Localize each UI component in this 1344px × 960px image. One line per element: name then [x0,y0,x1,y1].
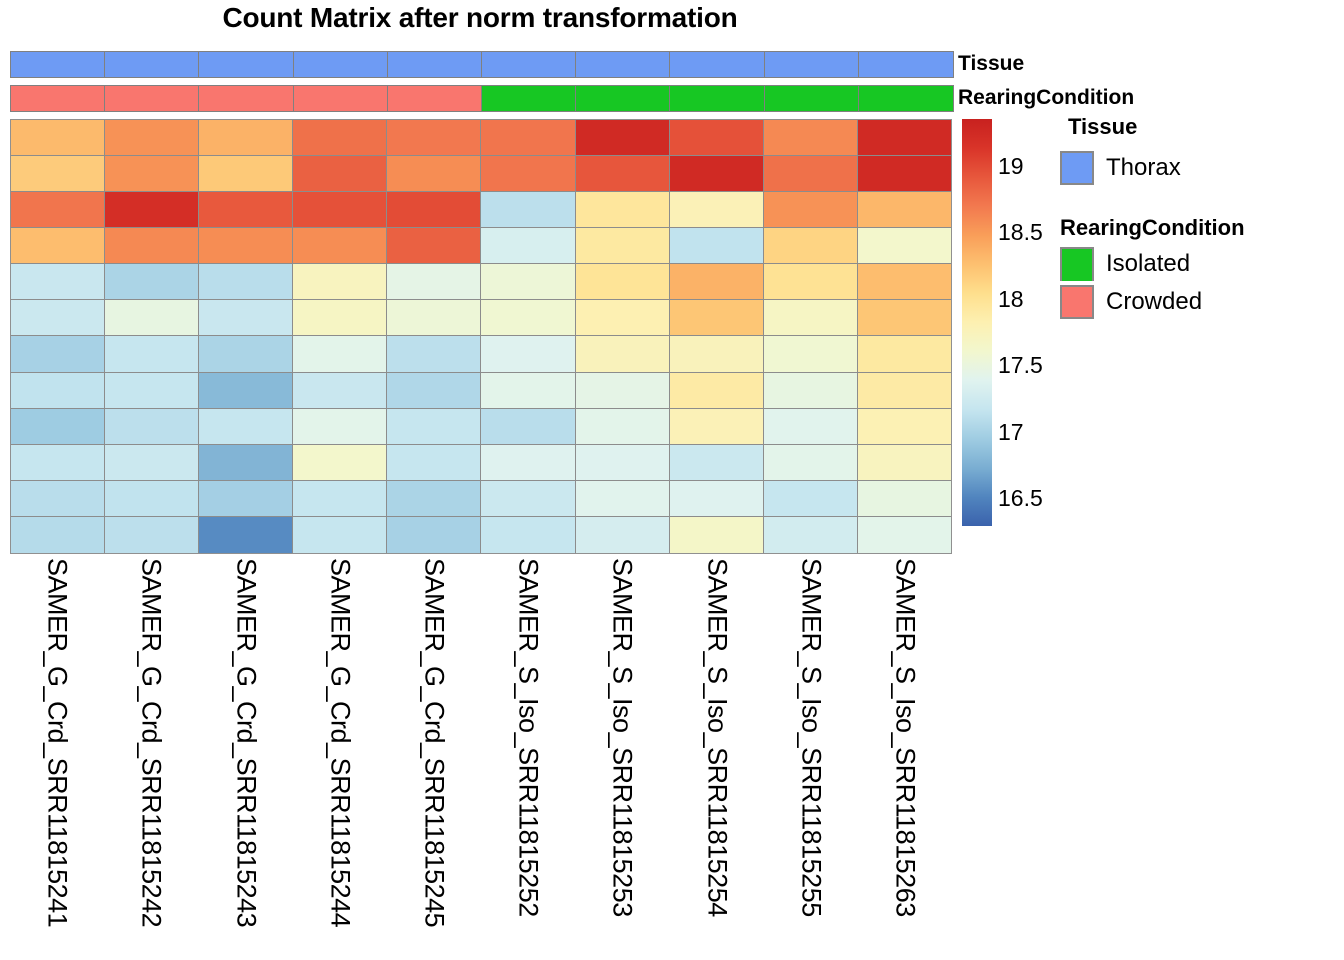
heatmap-cell [293,264,387,300]
heatmap-cell [858,409,951,445]
heatmap-cell [764,481,858,517]
heatmap-cell [576,409,670,445]
heatmap-cell [199,228,293,264]
column-label: SAMER_G_Crd_SRR11815241 [42,558,73,927]
column-label-slot: SAMER_G_Crd_SRR11815242 [104,556,198,956]
colorbar-tick-label: 16.5 [998,485,1043,512]
column-label-slot: SAMER_G_Crd_SRR11815245 [387,556,481,956]
heatmap-cell [764,300,858,336]
heatmap-grid [10,119,952,554]
heatmap-cell [105,517,199,553]
annotation-cell [10,85,106,112]
column-label: SAMER_S_Iso_SRR11815253 [607,558,638,917]
legend-title-tissue: Tissue [1068,114,1137,140]
heatmap-cell [481,409,575,445]
legend-swatch-isolated [1060,247,1094,281]
annotation-cell [669,85,765,112]
heatmap-cell [764,336,858,372]
heatmap-cell [199,336,293,372]
column-axis-labels: SAMER_G_Crd_SRR11815241SAMER_G_Crd_SRR11… [10,556,952,956]
heatmap-cell [105,481,199,517]
heatmap-row [11,120,951,156]
annotation-label-tissue: Tissue [958,52,1024,76]
heatmap-cell [764,409,858,445]
heatmap-cell [764,192,858,228]
heatmap-cell [764,120,858,156]
column-label-slot: SAMER_S_Iso_SRR11815252 [481,556,575,956]
heatmap-cell [105,120,199,156]
heatmap-row [11,481,951,517]
heatmap-cell [764,517,858,553]
heatmap-cell [481,373,575,409]
heatmap-cell [670,336,764,372]
heatmap-cell [387,156,481,192]
heatmap-cell [293,517,387,553]
heatmap-row [11,445,951,481]
heatmap-cell [293,373,387,409]
annotation-cell [481,85,577,112]
heatmap-cell [11,228,105,264]
annotation-bar-tissue [10,51,952,78]
column-label: SAMER_G_Crd_SRR11815245 [418,558,449,927]
heatmap-cell [670,445,764,481]
heatmap-cell [858,192,951,228]
heatmap-row [11,228,951,264]
heatmap-cell [858,517,951,553]
column-label: SAMER_S_Iso_SRR11815263 [889,558,920,917]
heatmap-cell [576,228,670,264]
heatmap-cell [105,264,199,300]
column-label-slot: SAMER_G_Crd_SRR11815241 [10,556,104,956]
heatmap-cell [858,264,951,300]
column-label-slot: SAMER_S_Iso_SRR11815255 [764,556,858,956]
heatmap-cell [105,409,199,445]
heatmap-cell [858,445,951,481]
heatmap-cell [387,192,481,228]
heatmap-cell [576,300,670,336]
heatmap-cell [764,264,858,300]
column-label: SAMER_S_Iso_SRR11815254 [701,558,732,917]
heatmap-cell [11,409,105,445]
heatmap-cell [576,192,670,228]
legend-entry-thorax[interactable]: Thorax [1060,151,1181,185]
heatmap-cell [764,228,858,264]
heatmap-cell [199,517,293,553]
heatmap-cell [11,192,105,228]
colorbar-tick-label: 17 [998,419,1024,446]
heatmap-cell [670,120,764,156]
page-title: Count Matrix after norm transformation [0,2,960,34]
heatmap-cell [481,192,575,228]
heatmap-cell [105,228,199,264]
colorbar-tick-label: 18 [998,286,1024,313]
annotation-cell [858,51,954,78]
heatmap-cell [387,228,481,264]
column-label-slot: SAMER_S_Iso_SRR11815263 [858,556,952,956]
heatmap-cell [481,228,575,264]
heatmap-cell [764,156,858,192]
heatmap-cell [11,373,105,409]
heatmap-cell [199,156,293,192]
heatmap-cell [858,228,951,264]
annotation-label-rearing: RearingCondition [958,86,1134,110]
legend-entry-isolated[interactable]: Isolated [1060,247,1190,281]
heatmap-cell [11,517,105,553]
annotation-cell [387,51,483,78]
heatmap-cell [670,517,764,553]
heatmap-cell [670,228,764,264]
heatmap-cell [11,120,105,156]
heatmap-cell [199,445,293,481]
annotation-cell [198,85,294,112]
heatmap-cell [293,300,387,336]
column-label-slot: SAMER_S_Iso_SRR11815253 [575,556,669,956]
annotation-cell [104,51,200,78]
heatmap-cell [105,373,199,409]
heatmap-cell [293,445,387,481]
heatmap-row [11,336,951,372]
heatmap-cell [105,192,199,228]
heatmap-cell [670,373,764,409]
heatmap-cell [481,336,575,372]
heatmap-cell [670,264,764,300]
heatmap-cell [387,373,481,409]
annotation-cell [10,51,106,78]
heatmap-cell [105,336,199,372]
heatmap-cell [11,300,105,336]
annotation-cell [764,85,860,112]
heatmap-cell [858,336,951,372]
heatmap-cell [199,264,293,300]
heatmap-cell [858,481,951,517]
column-label: SAMER_G_Crd_SRR11815243 [230,558,261,927]
heatmap-cell [293,336,387,372]
column-label: SAMER_S_Iso_SRR11815255 [795,558,826,917]
column-label: SAMER_S_Iso_SRR11815252 [513,558,544,917]
heatmap-row [11,192,951,228]
annotation-cell [481,51,577,78]
heatmap-cell [105,156,199,192]
column-label: SAMER_G_Crd_SRR11815244 [324,558,355,927]
heatmap-cell [858,373,951,409]
heatmap-cell [481,264,575,300]
heatmap-cell [199,409,293,445]
heatmap-cell [670,481,764,517]
heatmap-row [11,300,951,336]
heatmap-cell [11,445,105,481]
heatmap-row [11,373,951,409]
heatmap-cell [670,300,764,336]
heatmap-cell [11,481,105,517]
heatmap-cell [576,120,670,156]
heatmap-cell [387,409,481,445]
heatmap-cell [387,120,481,156]
heatmap-row [11,517,951,553]
column-label-slot: SAMER_G_Crd_SRR11815244 [293,556,387,956]
heatmap-cell [576,445,670,481]
legend-swatch-thorax [1060,151,1094,185]
heatmap-cell [387,300,481,336]
heatmap-cell [670,192,764,228]
heatmap-cell [293,228,387,264]
legend-swatch-crowded [1060,285,1094,319]
annotation-bar-rearing [10,85,952,112]
heatmap-cell [11,264,105,300]
colorbar-tick-label: 17.5 [998,352,1043,379]
annotation-cell [104,85,200,112]
heatmap-row [11,264,951,300]
heatmap-figure: Count Matrix after norm transformation T… [0,0,1344,960]
heatmap-cell [199,192,293,228]
legend-label-thorax: Thorax [1106,154,1181,182]
column-label-slot: SAMER_G_Crd_SRR11815243 [198,556,292,956]
heatmap-cell [576,517,670,553]
legend-label-isolated: Isolated [1106,250,1190,278]
heatmap-cell [199,300,293,336]
annotation-cell [575,51,671,78]
annotation-cell [575,85,671,112]
heatmap-cell [858,120,951,156]
heatmap-cell [576,336,670,372]
column-label-slot: SAMER_S_Iso_SRR11815254 [669,556,763,956]
colorbar-gradient [962,119,992,526]
colorbar-tick-label: 19 [998,153,1024,180]
heatmap-cell [387,517,481,553]
colorbar [962,119,992,526]
heatmap-cell [105,300,199,336]
annotation-cell [387,85,483,112]
heatmap-cell [199,373,293,409]
heatmap-cell [11,156,105,192]
heatmap-cell [481,517,575,553]
legend-label-crowded: Crowded [1106,288,1202,316]
legend-entry-crowded[interactable]: Crowded [1060,285,1202,319]
heatmap-cell [387,445,481,481]
heatmap-cell [199,120,293,156]
heatmap-cell [387,264,481,300]
heatmap-cell [293,481,387,517]
heatmap-row [11,409,951,445]
heatmap-cell [481,445,575,481]
heatmap-cell [293,156,387,192]
heatmap-cell [199,481,293,517]
heatmap-cell [576,373,670,409]
heatmap-cell [576,264,670,300]
annotation-cell [669,51,765,78]
heatmap-cell [481,481,575,517]
heatmap-cell [387,481,481,517]
heatmap-cell [481,120,575,156]
heatmap-cell [670,409,764,445]
heatmap-cell [481,300,575,336]
heatmap-cell [764,373,858,409]
heatmap-cell [293,120,387,156]
heatmap-cell [293,409,387,445]
heatmap-cell [576,156,670,192]
heatmap-cell [670,156,764,192]
heatmap-cell [387,336,481,372]
heatmap-cell [293,192,387,228]
annotation-cell [198,51,294,78]
heatmap-cell [858,300,951,336]
heatmap-cell [11,336,105,372]
heatmap-cell [764,445,858,481]
colorbar-tick-label: 18.5 [998,219,1043,246]
annotation-cell [858,85,954,112]
heatmap-row [11,156,951,192]
heatmap-cell [858,156,951,192]
heatmap-cell [105,445,199,481]
annotation-cell [764,51,860,78]
legend-title-rearing: RearingCondition [1060,215,1245,241]
annotation-cell [293,85,389,112]
annotation-cell [293,51,389,78]
heatmap-cell [481,156,575,192]
heatmap-cell [576,481,670,517]
column-label: SAMER_G_Crd_SRR11815242 [136,558,167,927]
